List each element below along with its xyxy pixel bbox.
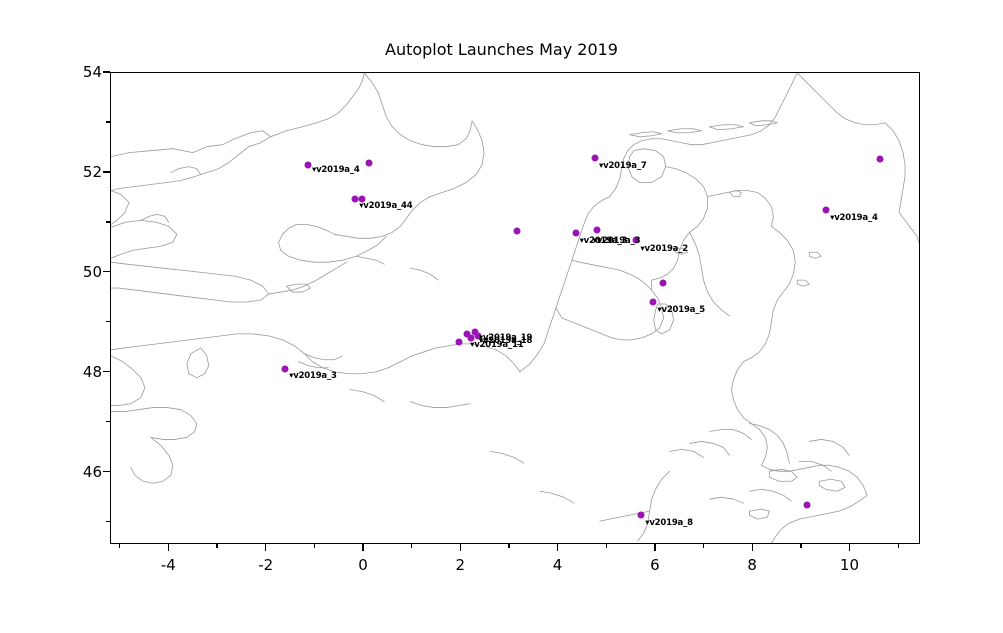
axis-tick	[103, 371, 110, 372]
x-axis-tick-labels: -4-20246810	[110, 556, 920, 580]
coastline-map	[111, 73, 919, 543]
scatter-point	[305, 162, 312, 169]
x-tick-label: -2	[258, 556, 273, 574]
scatter-point	[572, 229, 579, 236]
axis-tick	[216, 544, 217, 548]
scatter-point	[455, 338, 462, 345]
x-tick-label: 8	[747, 556, 757, 574]
scatter-point	[660, 279, 667, 286]
x-tick-label: -4	[161, 556, 176, 574]
map-plot-area: ▾v2019a_4▾v2019a_44▾v2019a_3▾v2019a_7▾v2…	[110, 72, 920, 544]
chart-title: Autoplot Launches May 2019	[0, 40, 1003, 59]
scatter-point-label: ▾v2019a_4	[830, 213, 878, 223]
axis-tick	[168, 544, 169, 551]
axis-tick	[703, 544, 704, 548]
y-tick-label: 50	[83, 263, 102, 281]
y-tick-label: 46	[83, 463, 102, 481]
axis-tick	[362, 544, 363, 551]
scatter-point-label: ▾v2019a_4	[312, 165, 360, 175]
y-tick-label: 52	[83, 163, 102, 181]
axis-tick	[508, 544, 509, 548]
scatter-point	[823, 207, 830, 214]
scatter-point-label: ▾v2019a_8	[645, 518, 693, 528]
x-tick-label: 6	[650, 556, 660, 574]
y-axis-tick-labels: 4648505254	[40, 72, 102, 544]
axis-tick	[460, 544, 461, 551]
x-tick-label: 2	[455, 556, 465, 574]
x-tick-label: 10	[840, 556, 859, 574]
scatter-point	[282, 366, 289, 373]
axis-tick	[119, 544, 120, 548]
scatter-point	[650, 298, 657, 305]
scatter-point	[594, 227, 601, 234]
figure-canvas: Autoplot Launches May 2019	[0, 0, 1003, 633]
scatter-point-label: ▾v2019a_2	[640, 244, 688, 254]
axis-tick	[849, 544, 850, 551]
y-tick-label: 54	[83, 63, 102, 81]
scatter-point	[514, 228, 521, 235]
axis-tick	[557, 544, 558, 551]
scatter-point	[592, 154, 599, 161]
scatter-point-label: ▾v2019a_11	[470, 340, 523, 350]
axis-tick	[103, 71, 110, 72]
axis-tick	[103, 171, 110, 172]
axis-tick	[314, 544, 315, 548]
scatter-point-label: ▾v2019a_7	[599, 161, 647, 171]
axis-tick	[265, 544, 266, 551]
axis-tick	[800, 544, 801, 548]
y-tick-label: 48	[83, 363, 102, 381]
x-tick-label: 0	[358, 556, 368, 574]
scatter-point	[803, 502, 810, 509]
axis-tick	[411, 544, 412, 548]
scatter-point	[365, 159, 372, 166]
scatter-point	[638, 512, 645, 519]
scatter-point-label: ▾v2019a_3	[593, 236, 641, 246]
scatter-point-label: ▾v2019a_3	[289, 371, 337, 381]
scatter-point-label: ▾v2019a_5	[657, 305, 705, 315]
x-tick-label: 4	[553, 556, 563, 574]
axis-tick	[898, 544, 899, 548]
scatter-point	[876, 156, 883, 163]
axis-tick	[752, 544, 753, 551]
axis-tick	[606, 544, 607, 548]
axis-tick	[103, 271, 110, 272]
scatter-point-label: ▾v2019a_44	[359, 201, 412, 211]
axis-tick	[103, 471, 110, 472]
axis-tick	[654, 544, 655, 551]
